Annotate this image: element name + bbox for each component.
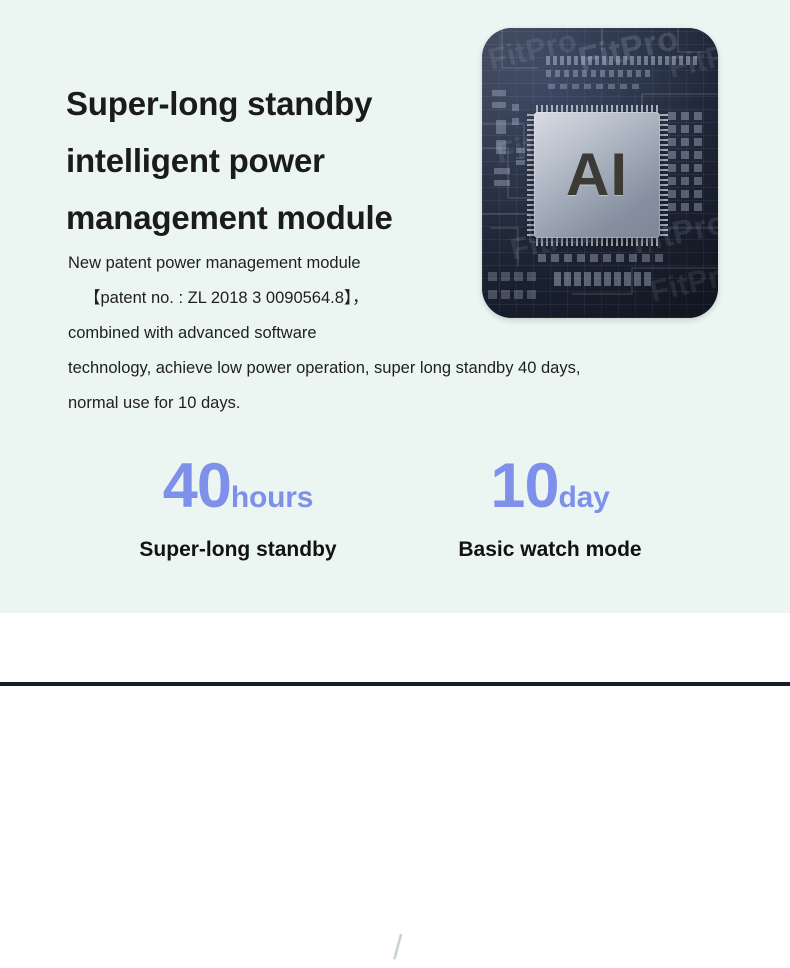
chip-pins-bottom	[536, 238, 658, 246]
stat-watch-mode-label: Basic watch mode	[420, 538, 680, 562]
description-line-5: normal use for 10 days.	[68, 386, 708, 421]
ai-chip-product-image: FitPro FitPro FitPro FitPro FitPro FitPr…	[482, 28, 718, 318]
chip-pins-right	[660, 114, 668, 236]
stats-divider: /	[393, 929, 402, 968]
white-spacer-strip	[0, 613, 790, 682]
page-title: Super-long standby intelligent power man…	[66, 75, 466, 246]
stat-watch-mode-value: 10day	[420, 455, 680, 518]
description-line-3: combined with advanced software	[68, 316, 708, 351]
stat-watch-mode-number: 10	[490, 451, 558, 521]
description-line-4: technology, achieve low power operation,…	[68, 351, 708, 386]
next-section-edge	[0, 682, 790, 686]
stat-watch-mode-unit: day	[558, 481, 609, 514]
stat-standby-number: 40	[163, 451, 231, 521]
stat-watch-mode: 10day Basic watch mode	[420, 455, 680, 562]
battery-stats-row: 40hours Super-long standby / 10day Basic…	[0, 455, 790, 585]
stat-standby-value: 40hours	[108, 455, 368, 518]
stat-standby-unit: hours	[231, 481, 313, 514]
stat-standby-label: Super-long standby	[108, 538, 368, 562]
page-title-line-3: management module	[66, 189, 466, 246]
ai-chip-icon: AI	[534, 112, 660, 238]
stat-standby: 40hours Super-long standby	[108, 455, 368, 562]
ai-chip-label: AI	[566, 145, 628, 205]
page-title-line-1: Super-long standby	[66, 75, 466, 132]
page-title-line-2: intelligent power	[66, 132, 466, 189]
product-feature-page: Super-long standby intelligent power man…	[0, 0, 790, 686]
